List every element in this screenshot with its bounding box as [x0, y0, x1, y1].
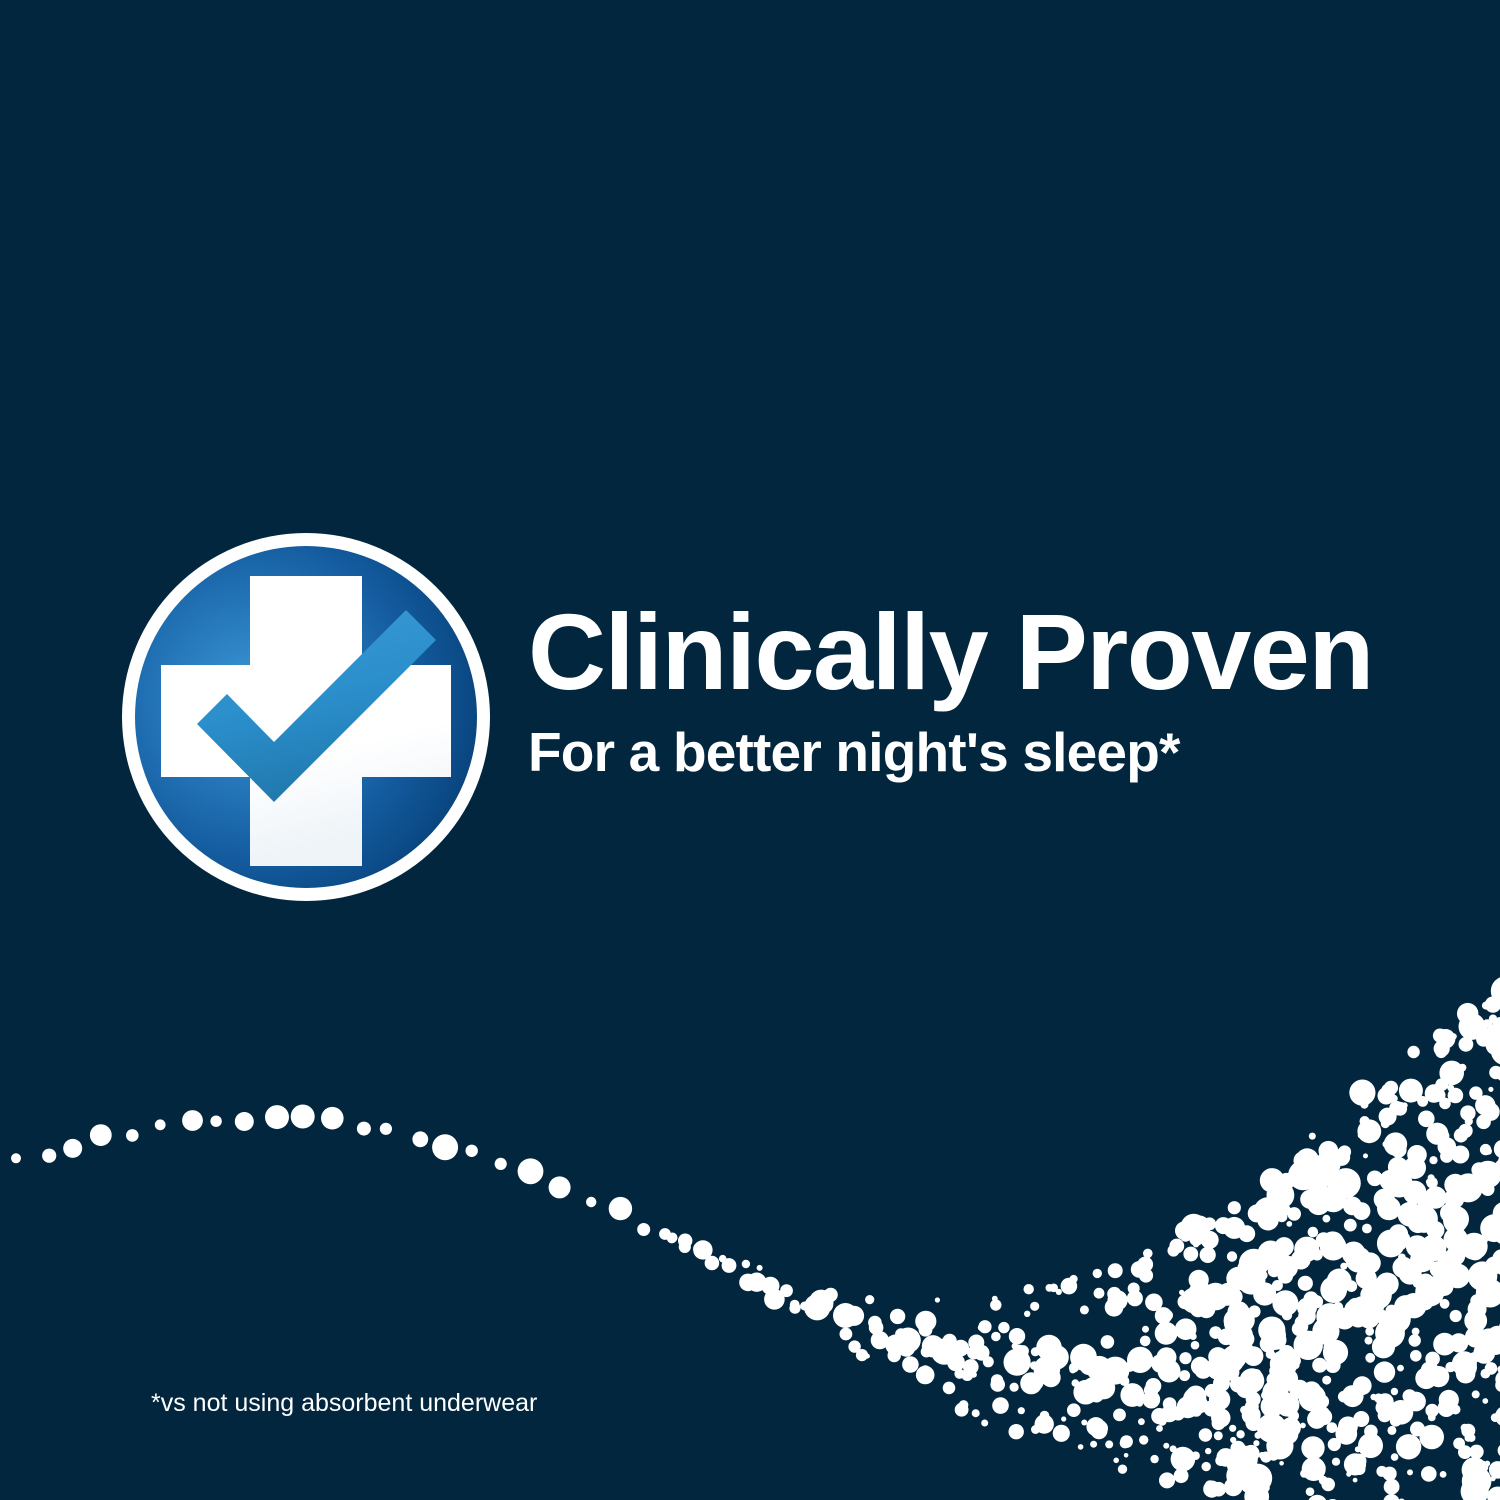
wave-dot [935, 1297, 940, 1302]
wave-dot [1406, 1195, 1413, 1202]
wave-dot [1445, 1362, 1455, 1372]
wave-dot [1282, 1310, 1292, 1320]
wave-dot [833, 1303, 858, 1328]
wave-dot [1330, 1289, 1342, 1301]
wave-dot [1465, 1117, 1473, 1125]
wave-dot [1230, 1441, 1245, 1456]
wave-dot [742, 1260, 750, 1268]
wave-dot [1208, 1347, 1227, 1366]
wave-dot [1238, 1261, 1251, 1274]
wave-dot [1262, 1243, 1275, 1256]
wave-dot [1333, 1302, 1343, 1312]
wave-dot [1345, 1300, 1363, 1318]
wave-dot [1297, 1321, 1308, 1332]
wave-dot [1127, 1290, 1143, 1306]
wave-dot [1181, 1214, 1207, 1240]
wave-dot [1460, 1237, 1480, 1257]
wave-dot [1465, 1434, 1473, 1442]
wave-dot [1428, 1414, 1436, 1422]
wave-dot [1304, 1291, 1319, 1306]
wave-dot [856, 1349, 868, 1361]
wave-dot [919, 1323, 933, 1337]
wave-dot [1325, 1358, 1340, 1373]
wave-dot [1301, 1436, 1324, 1459]
wave-dot [1230, 1437, 1236, 1443]
wave-dot [1215, 1455, 1226, 1466]
wave-dot [1362, 1224, 1372, 1234]
wave-dot [991, 1332, 1001, 1342]
wave-dot [1258, 1317, 1285, 1344]
wave-dot [1027, 1374, 1044, 1391]
wave-dot [1202, 1283, 1230, 1311]
wave-dot [1230, 1377, 1246, 1393]
wave-dot [1341, 1245, 1352, 1256]
wave-dot [1222, 1353, 1232, 1363]
wave-dot [1311, 1242, 1318, 1249]
wave-dot [1222, 1363, 1239, 1380]
wave-dot [1276, 1348, 1300, 1372]
wave-dot [1244, 1484, 1269, 1500]
wave-dot [1127, 1347, 1153, 1373]
wave-dot [1491, 1413, 1500, 1422]
wave-dot [1094, 1288, 1105, 1299]
wave-dot [1286, 1221, 1292, 1227]
wave-dot [1391, 1453, 1399, 1461]
wave-dot [1190, 1405, 1202, 1417]
wave-dot [1186, 1386, 1206, 1406]
wave-dot [1459, 1037, 1474, 1052]
wave-dot [1398, 1175, 1412, 1189]
wave-dot [1481, 1182, 1495, 1196]
wave-dot [637, 1223, 650, 1236]
wave-dot [1306, 1151, 1314, 1159]
wave-dot [978, 1324, 985, 1331]
wave-dot [1120, 1438, 1131, 1449]
wave-dot [1004, 1349, 1031, 1376]
wave-dot [719, 1255, 727, 1263]
wave-dot [1261, 1391, 1269, 1399]
wave-dot [1269, 1369, 1293, 1393]
wave-dot [1365, 1337, 1373, 1345]
wave-dot [1259, 1452, 1266, 1459]
wave-dot [1403, 1181, 1427, 1205]
wave-dot [1304, 1184, 1333, 1213]
wave-dot [1091, 1422, 1108, 1439]
wave-dot [1248, 1305, 1260, 1317]
wave-dot [1478, 1235, 1488, 1245]
wave-dot [991, 1374, 1003, 1386]
wave-dot [1290, 1355, 1301, 1366]
wave-dot [1447, 1084, 1454, 1091]
wave-dot [1363, 1153, 1368, 1158]
wave-dot [1236, 1379, 1256, 1399]
wave-dot [1287, 1207, 1301, 1221]
wave-dot [1113, 1458, 1119, 1464]
wave-dot [1360, 1252, 1381, 1273]
wave-dot [1174, 1468, 1189, 1483]
wave-dot [1328, 1438, 1341, 1451]
wave-dot [1435, 1046, 1447, 1058]
wave-dot [1302, 1381, 1322, 1401]
wave-dot [1374, 1393, 1383, 1402]
wave-dot [1334, 1308, 1356, 1330]
wave-dot [1443, 1206, 1469, 1232]
wave-dot [1224, 1308, 1248, 1332]
wave-dot [1244, 1346, 1264, 1366]
wave-dot [1491, 1217, 1499, 1225]
wave-dot [1400, 1207, 1414, 1221]
wave-dot [1262, 1484, 1270, 1492]
wave-dot [1400, 1166, 1410, 1176]
wave-dot [1058, 1350, 1065, 1357]
wave-dot [1299, 1384, 1326, 1411]
wave-dot [1492, 1249, 1500, 1268]
wave-dot [1191, 1357, 1210, 1376]
wave-dot [1495, 1159, 1500, 1175]
wave-dot [1257, 1413, 1287, 1443]
wave-dot [1338, 1391, 1350, 1403]
wave-dot [1090, 1441, 1097, 1448]
wave-dot [1481, 1103, 1499, 1121]
wave-dot [1235, 1268, 1258, 1291]
wave-dot [1217, 1221, 1227, 1231]
wave-dot [1373, 1309, 1387, 1323]
wave-dot [1390, 1415, 1402, 1427]
wave-dot [1429, 1156, 1437, 1164]
wave-dot [1407, 1046, 1419, 1058]
wave-dot [126, 1129, 139, 1142]
wave-dot [1240, 1256, 1262, 1278]
wave-dot [1467, 1434, 1475, 1442]
wave-dot [1417, 1096, 1428, 1107]
wave-dot [1344, 1150, 1350, 1156]
wave-dot [1454, 1173, 1483, 1202]
wave-dot [1270, 1350, 1298, 1378]
wave-dot [1465, 1326, 1487, 1348]
wave-dot [1206, 1356, 1230, 1380]
wave-dot [1225, 1222, 1240, 1237]
wave-dot [1415, 1367, 1437, 1389]
wave-dot [1429, 1276, 1441, 1288]
wave-dot [1139, 1435, 1148, 1444]
wave-dot [1477, 1328, 1500, 1352]
wave-dot [1139, 1268, 1153, 1282]
wave-dot [1223, 1217, 1245, 1239]
wave-dot [1298, 1307, 1316, 1325]
wave-dot [780, 1284, 793, 1297]
wave-dot [1177, 1449, 1192, 1464]
wave-dot [1440, 1203, 1459, 1222]
wave-dot [1425, 1404, 1438, 1417]
wave-dot [1367, 1171, 1383, 1187]
wave-dot [1267, 1181, 1295, 1209]
wave-dot [865, 1354, 870, 1359]
wave-dot [1067, 1403, 1081, 1417]
wave-dot [235, 1112, 254, 1131]
wave-dot [1012, 1343, 1019, 1350]
wave-dot [1364, 1281, 1392, 1309]
wave-dot [1461, 1477, 1489, 1500]
wave-dot [1451, 1146, 1469, 1164]
wave-dot [1457, 1003, 1478, 1024]
wave-dot [1143, 1249, 1153, 1259]
wave-dot [1436, 1262, 1458, 1284]
wave-dot [1157, 1416, 1167, 1426]
wave-dot [1202, 1462, 1211, 1471]
wave-dot [1305, 1441, 1315, 1451]
wave-dot [1365, 1327, 1374, 1336]
wave-dot [1383, 1494, 1399, 1500]
wave-dot [1070, 1275, 1078, 1283]
wave-dot [1353, 1478, 1358, 1483]
wave-dot [1080, 1305, 1089, 1314]
wave-dot [1181, 1288, 1207, 1314]
wave-dot [1314, 1359, 1327, 1372]
wave-dot [1241, 1467, 1263, 1489]
wave-dot [1159, 1472, 1175, 1488]
wave-dot [1276, 1211, 1287, 1222]
wave-dot [1269, 1365, 1282, 1378]
wave-dot [1352, 1454, 1367, 1469]
wave-dot [1108, 1263, 1123, 1278]
wave-dot [1056, 1289, 1062, 1295]
wave-dot [1336, 1148, 1349, 1161]
wave-dot [1438, 1137, 1457, 1156]
wave-dot [1338, 1416, 1358, 1436]
wave-dot [1402, 1268, 1410, 1276]
wave-dot [1438, 1399, 1456, 1417]
wave-dot [1273, 1431, 1292, 1450]
wave-dot [1124, 1453, 1129, 1458]
wave-dot [1440, 1299, 1450, 1309]
wave-dot [1205, 1384, 1219, 1398]
wave-dot [1364, 1286, 1388, 1310]
wave-dot [1230, 1308, 1254, 1332]
wave-dot [1229, 1425, 1236, 1432]
wave-dot [1407, 1259, 1422, 1274]
wave-dot [1397, 1232, 1410, 1245]
wave-dot [1157, 1347, 1177, 1367]
wave-dot [1268, 1450, 1279, 1461]
wave-dot [1333, 1149, 1350, 1166]
wave-dot [1151, 1408, 1167, 1424]
wave-dot [1381, 1119, 1390, 1128]
wave-dot [1203, 1481, 1220, 1498]
wave-dot [1475, 1095, 1495, 1115]
wave-dot [1175, 1221, 1194, 1240]
wave-dot [1467, 1243, 1484, 1260]
wave-dot [1366, 1304, 1384, 1322]
wave-dot [182, 1110, 203, 1131]
wave-dot [1086, 1417, 1105, 1436]
wave-dot [1448, 1185, 1460, 1197]
wave-dot [1203, 1217, 1216, 1230]
wave-dot [210, 1116, 221, 1127]
wave-dot [1125, 1362, 1135, 1372]
wave-dot [1377, 1230, 1405, 1258]
wave-dot [804, 1294, 830, 1320]
wave-dot [1298, 1276, 1313, 1291]
wave-dot [1040, 1411, 1050, 1421]
wave-dot [1379, 1108, 1397, 1126]
wave-dot [1367, 1443, 1380, 1456]
wave-dot [841, 1309, 852, 1320]
wave-dot [321, 1107, 344, 1130]
wave-dot [1453, 1438, 1465, 1450]
wave-dot [1272, 1280, 1283, 1291]
wave-dot [1419, 1425, 1444, 1450]
wave-dot [972, 1409, 980, 1417]
wave-dot [1331, 1168, 1361, 1198]
wave-dot [1315, 1406, 1330, 1421]
wave-dot [1321, 1189, 1332, 1200]
wave-dot [1118, 1465, 1127, 1474]
wave-dot [1136, 1400, 1143, 1407]
wave-dot [1489, 1015, 1497, 1023]
wave-dot [1214, 1431, 1223, 1440]
wave-dot [1279, 1243, 1290, 1254]
wave-dot [757, 1265, 763, 1271]
wave-dot [1494, 1223, 1500, 1244]
wave-dot [1236, 1271, 1251, 1286]
wave-dot [1222, 1345, 1246, 1369]
wave-dot [1347, 1298, 1364, 1315]
wave-dot [1200, 1247, 1216, 1263]
wave-dot [1278, 1173, 1295, 1190]
wave-dot [922, 1335, 944, 1357]
wave-dot [1403, 1156, 1426, 1179]
wave-dot [1258, 1241, 1284, 1267]
wave-dot [1198, 1218, 1210, 1230]
wave-dot [1267, 1407, 1279, 1419]
wave-dot [790, 1300, 800, 1310]
wave-dot [1014, 1345, 1024, 1355]
wave-dot [1242, 1484, 1250, 1492]
wave-dot [1356, 1268, 1377, 1289]
wave-dot [1326, 1176, 1337, 1187]
wave-dot [1240, 1406, 1249, 1415]
wave-dot [1402, 1102, 1408, 1108]
wave-dot [1290, 1380, 1309, 1399]
wave-dot [1451, 1405, 1461, 1415]
wave-dot [1311, 1249, 1322, 1260]
wave-dot [1376, 1400, 1391, 1415]
wave-dot [981, 1420, 988, 1427]
wave-dot [1248, 1204, 1266, 1222]
wave-dot [990, 1377, 1005, 1392]
wave-dot [1315, 1151, 1340, 1176]
wave-dot [1239, 1249, 1269, 1279]
wave-dot [1390, 1142, 1406, 1158]
wave-dot [1224, 1311, 1249, 1336]
wave-dot [412, 1131, 428, 1147]
wave-dot [518, 1158, 544, 1184]
wave-dot [761, 1277, 779, 1295]
wave-dot [897, 1339, 915, 1357]
wave-dot [1332, 1458, 1340, 1466]
wave-dot [693, 1240, 712, 1259]
wave-dot [1335, 1423, 1357, 1445]
wave-dot [1218, 1347, 1244, 1373]
headline-block: Clinically Proven For a better night's s… [528, 597, 1428, 780]
wave-dot [1401, 1293, 1426, 1318]
wave-dot [1307, 1410, 1326, 1429]
wave-dot [1494, 1140, 1500, 1159]
wave-dot [1387, 1426, 1396, 1435]
wave-dot [1377, 1393, 1394, 1410]
wave-dot [1482, 1002, 1490, 1010]
wave-dot [1242, 1406, 1261, 1425]
wave-dot [1486, 1352, 1492, 1358]
wave-dot [1381, 1084, 1393, 1096]
wave-dot [1279, 1262, 1290, 1273]
wave-dot [1365, 1353, 1375, 1363]
wave-dot [1009, 1424, 1024, 1439]
wave-dot [1296, 1148, 1319, 1171]
wave-dot [1433, 1333, 1456, 1356]
wave-dot [1428, 1174, 1435, 1181]
wave-dot [1179, 1290, 1184, 1295]
wave-dot [1229, 1480, 1239, 1490]
wave-dot [1430, 1261, 1446, 1277]
wave-dot [1346, 1280, 1358, 1292]
wave-dot [1046, 1284, 1054, 1292]
wave-dot [961, 1369, 973, 1381]
wave-dot [1030, 1361, 1039, 1370]
wave-dot [1191, 1341, 1200, 1350]
wave-dot [1398, 1202, 1423, 1227]
wave-dot [963, 1359, 979, 1375]
wave-dot [1406, 1264, 1419, 1277]
wave-dot [1354, 1463, 1366, 1475]
wave-dot [1473, 1342, 1495, 1364]
wave-dot [1453, 1066, 1464, 1077]
wave-dot [1432, 1186, 1439, 1193]
wave-dot [1459, 1178, 1467, 1186]
wave-dot [1449, 1333, 1468, 1352]
wave-dot [1279, 1461, 1284, 1466]
wave-dot [1230, 1446, 1257, 1473]
wave-dot [1031, 1425, 1040, 1434]
wave-dot [1374, 1189, 1395, 1210]
wave-dot [1224, 1478, 1243, 1497]
wave-dot [1461, 1424, 1475, 1438]
wave-dot [1406, 1235, 1428, 1257]
wave-dot [1494, 1257, 1500, 1275]
wave-dot [1276, 1393, 1300, 1417]
wave-dot [1023, 1284, 1033, 1294]
wave-dot [1374, 1361, 1395, 1382]
wave-dot [1318, 1463, 1326, 1471]
wave-dot [1486, 1019, 1493, 1026]
wave-dot [1227, 1251, 1237, 1261]
wave-dot [1204, 1400, 1220, 1416]
wave-dot [1030, 1302, 1039, 1311]
wave-dot [1209, 1389, 1230, 1410]
wave-dot [1458, 1445, 1472, 1459]
wave-dot [1267, 1372, 1281, 1386]
wave-dot [1067, 1281, 1076, 1290]
wave-dot [1246, 1392, 1261, 1407]
wave-dot [1238, 1447, 1254, 1463]
wave-dot [844, 1306, 864, 1326]
wave-dot [1260, 1452, 1271, 1463]
wave-dot [1171, 1406, 1185, 1420]
wave-dot [1400, 1436, 1417, 1453]
wave-dot [1402, 1086, 1406, 1090]
wave-dot [1237, 1266, 1265, 1294]
wave-dot [1180, 1231, 1191, 1242]
